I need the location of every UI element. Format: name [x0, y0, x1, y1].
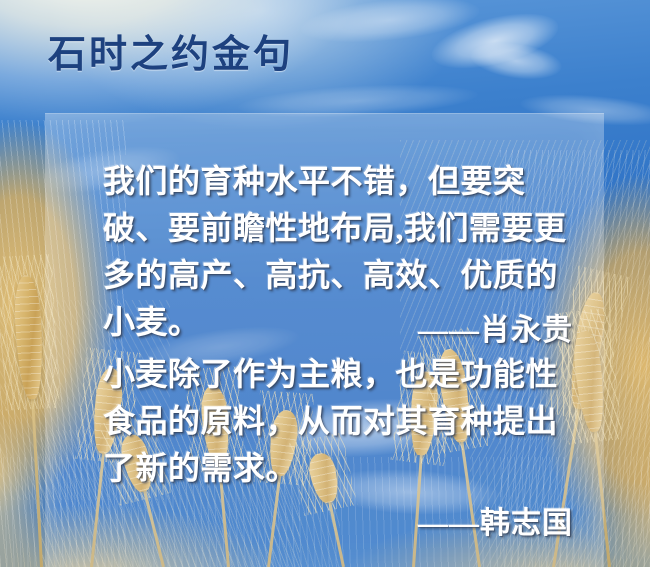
cloud-shape	[468, 38, 564, 84]
cloud-shape	[426, 3, 563, 79]
quote-content-area: 我们的育种水平不错，但要突破、要前瞻性地布局,我们需要更多的高产、高抗、高效、优…	[45, 113, 604, 567]
quote-attribution-2: ——韩志国	[103, 498, 573, 542]
quote-text-2: 小麦除了作为主粮，也是功能性食品的原料，从而对其育种提出了新的需求。	[103, 351, 573, 492]
cloud-shape	[298, 0, 481, 49]
quote-attribution-1: ——肖永贵	[103, 305, 573, 349]
page-title: 石时之约金句	[48, 36, 294, 74]
quote-poster: 石时之约金句 我们的育种水平不错，但要突破、要前瞻性地布局,我们需要更多的高产、…	[0, 0, 650, 567]
